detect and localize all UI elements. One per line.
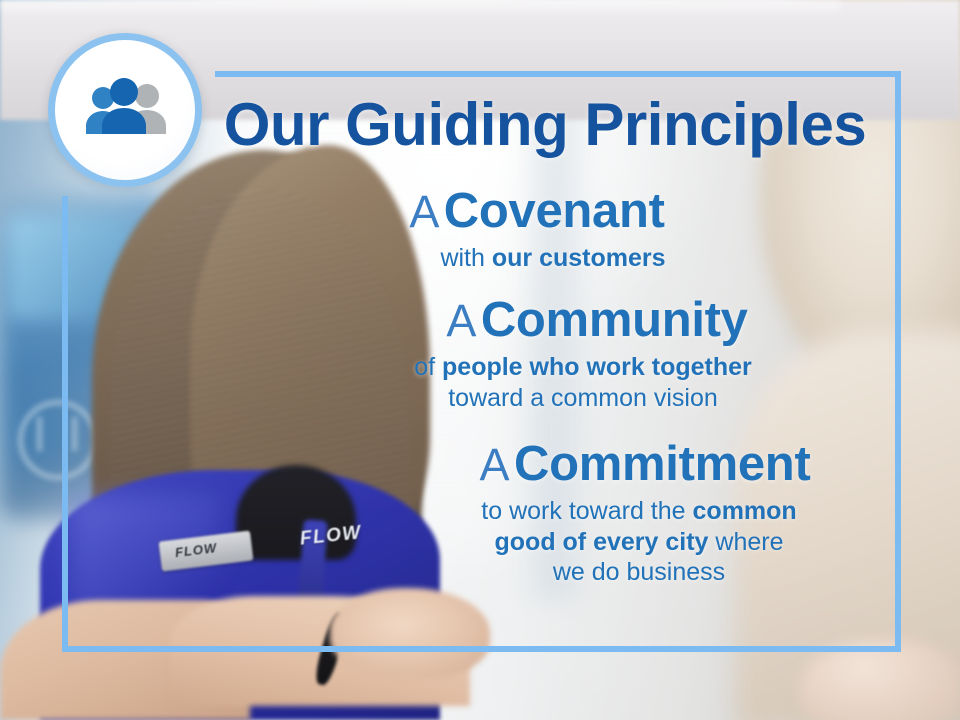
people-group-icon — [79, 77, 171, 143]
principle-title: A Community — [252, 295, 942, 346]
principle-description: of people who work togethertoward a comm… — [238, 352, 928, 413]
frame-border-bottom — [62, 646, 901, 652]
principle-item-community: A Community of people who work togethert… — [210, 295, 900, 413]
principle-title: A Covenant — [192, 186, 882, 237]
principle-keyword: Covenant — [444, 184, 665, 238]
page-title: Our Guiding Principles — [215, 95, 875, 155]
people-group-badge — [48, 33, 202, 187]
principle-keyword: Community — [481, 293, 748, 347]
principle-item-commitment: A Commitment to work toward the commongo… — [210, 439, 900, 587]
frame-border-top — [215, 71, 901, 77]
principle-description: to work toward the commongood of every c… — [294, 496, 960, 588]
principle-article: A — [446, 295, 476, 346]
principle-keyword: Commitment — [514, 437, 810, 491]
principle-article: A — [409, 186, 439, 237]
principle-item-covenant: A Covenant with our customers — [210, 186, 900, 273]
principles-list: A Covenant with our customers A Communit… — [210, 186, 900, 602]
guiding-principles-banner: FLOW FLOW Our Guiding Principles — [0, 0, 960, 720]
principle-article: A — [480, 439, 510, 490]
frame-border-left — [62, 196, 68, 652]
principle-description: with our customers — [208, 243, 898, 274]
principle-title: A Commitment — [300, 439, 960, 490]
